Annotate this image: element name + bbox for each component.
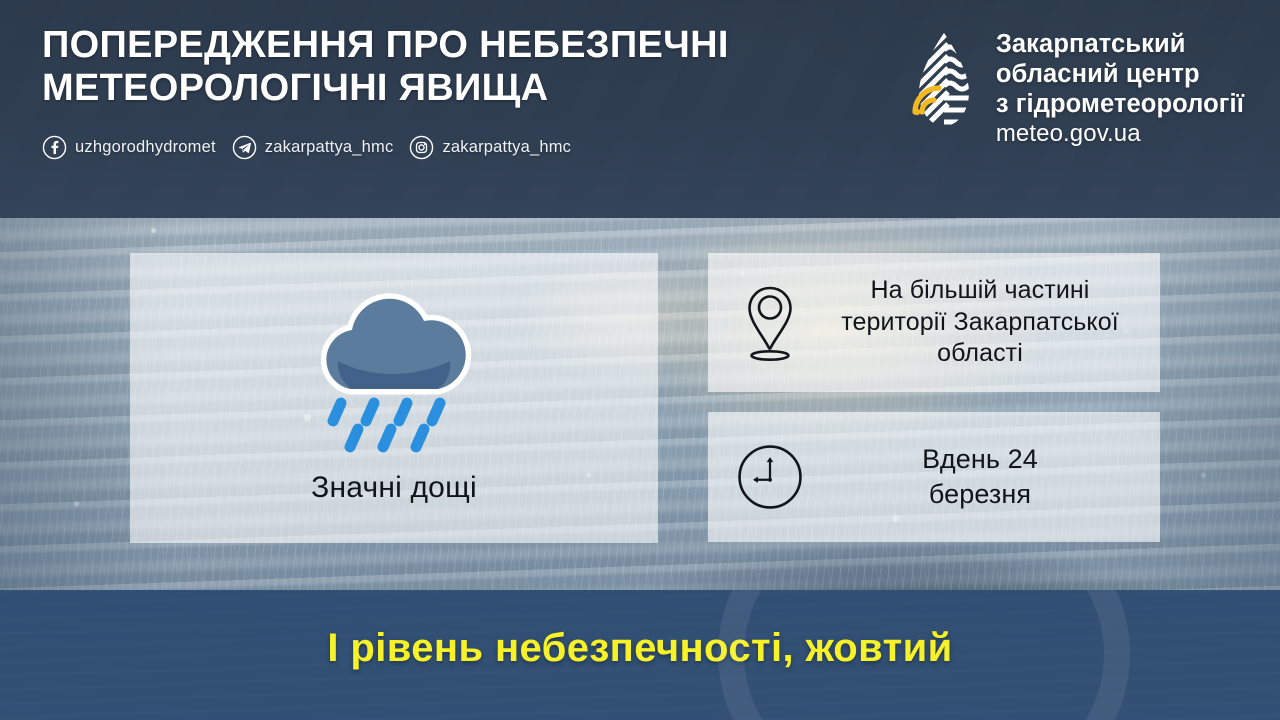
location-panel: На більшій частині території Закарпатськ…	[708, 253, 1160, 392]
organization-logo: Закарпатський обласний центр з гідромете…	[908, 24, 1244, 148]
instagram-handle: zakarpattya_hmc	[442, 138, 571, 157]
weather-warning-poster: ПОПЕРЕДЖЕННЯ ПРО НЕБЕЗПЕЧНІ МЕТЕОРОЛОГІЧ…	[0, 0, 1280, 720]
social-link-facebook[interactable]: uzhgorodhydromet	[42, 135, 216, 160]
page-title: ПОПЕРЕДЖЕННЯ ПРО НЕБЕЗПЕЧНІ МЕТЕОРОЛОГІЧ…	[42, 24, 729, 111]
facebook-handle: uzhgorodhydromet	[75, 138, 216, 157]
facebook-icon	[42, 135, 67, 160]
telegram-handle: zakarpattya_hmc	[265, 138, 394, 157]
time-panel: Вдень 24 березня	[708, 412, 1160, 542]
organization-name: Закарпатський обласний центр з гідромете…	[996, 30, 1244, 119]
social-links: uzhgorodhydromet zakarpattya_hmc	[42, 135, 729, 160]
header-title-block: ПОПЕРЕДЖЕННЯ ПРО НЕБЕЗПЕЧНІ МЕТЕОРОЛОГІЧ…	[42, 24, 729, 160]
organization-website: meteo.gov.ua	[996, 120, 1244, 148]
social-link-instagram[interactable]: zakarpattya_hmc	[409, 135, 571, 160]
hazard-label: Значні дощі	[311, 471, 477, 505]
hydrometeorology-droplet-logo-icon	[908, 30, 980, 135]
footer-band: I рівень небезпечності, жовтий	[0, 590, 1280, 720]
telegram-icon	[232, 135, 257, 160]
hazard-card: Значні дощі	[130, 253, 658, 543]
heavy-rain-cloud-icon	[294, 287, 494, 467]
danger-level-text: I рівень небезпечності, жовтий	[327, 626, 952, 671]
clock-icon	[734, 433, 806, 521]
location-text: На більшій частині території Закарпатськ…	[820, 275, 1146, 370]
header-band: ПОПЕРЕДЖЕННЯ ПРО НЕБЕЗПЕЧНІ МЕТЕОРОЛОГІЧ…	[0, 0, 1280, 218]
time-text: Вдень 24 березня	[820, 442, 1146, 512]
location-pin-icon	[734, 279, 806, 367]
instagram-icon	[409, 135, 434, 160]
social-link-telegram[interactable]: zakarpattya_hmc	[232, 135, 394, 160]
